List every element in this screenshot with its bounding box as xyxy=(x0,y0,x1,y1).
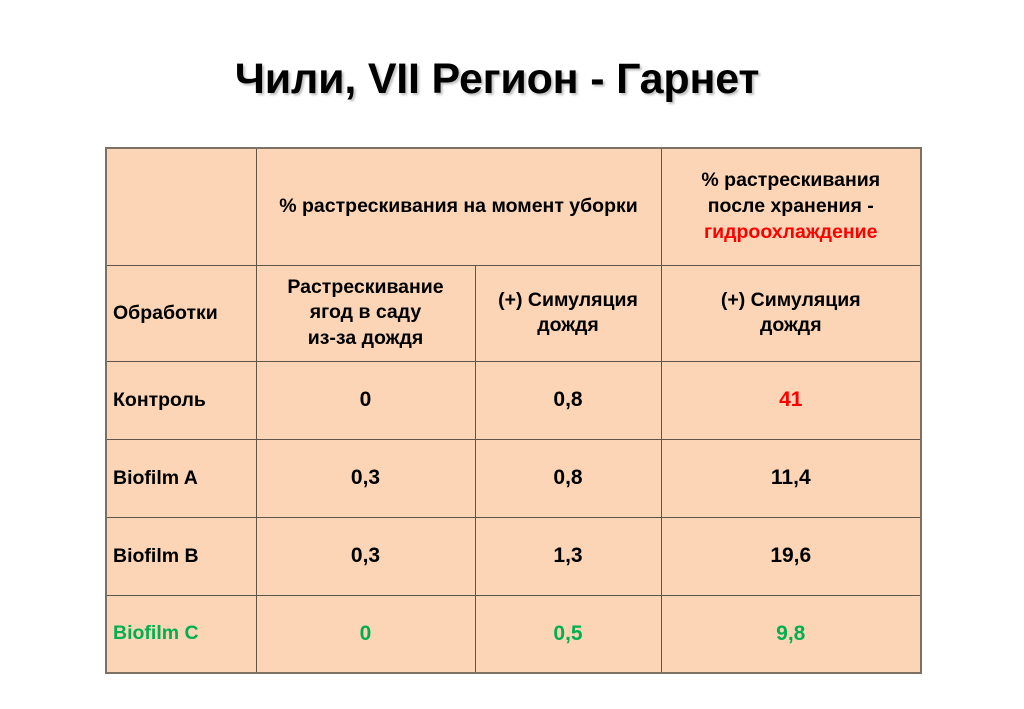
header-treatments: Обработки xyxy=(106,265,256,361)
header-rain-sim-storage-line1: (+) Симуляция xyxy=(721,289,861,311)
row-orchard-rain-value: 0 xyxy=(256,595,475,673)
row-orchard-rain-value: 0,3 xyxy=(256,517,475,595)
header-rain-sim-storage-line2: дождя xyxy=(760,314,822,336)
row-treatment-label: Biofilm C xyxy=(106,595,256,673)
header-orchard-rain-cracking: Растрескивание ягод в саду из-за дождя xyxy=(256,265,475,361)
table-group-header-row: % растрескивания на момент уборки % раст… xyxy=(106,148,921,265)
header-rain-simulation-storage: (+) Симуляция дождя xyxy=(661,265,921,361)
header-group-at-harvest: % растрескивания на момент уборки xyxy=(256,148,661,265)
row-rain-sim-storage-value: 41 xyxy=(661,361,921,439)
row-rain-sim-harvest-value: 0,8 xyxy=(475,361,661,439)
header-group-after-storage: % растрескивания после хранения - гидроо… xyxy=(661,148,921,265)
slide-title: Чили, VII Регион - Гарнет xyxy=(0,55,1024,104)
table-row: Biofilm B 0,3 1,3 19,6 xyxy=(106,517,921,595)
results-table-container: % растрескивания на момент уборки % раст… xyxy=(105,147,920,674)
header-after-storage-line2: после хранения - xyxy=(708,195,874,217)
header-after-storage-line1: % растрескивания xyxy=(701,169,880,191)
table-row: Biofilm C 0 0,5 9,8 xyxy=(106,595,921,673)
header-orchard-rain-line1: Растрескивание xyxy=(287,276,443,298)
row-rain-sim-harvest-value: 0,8 xyxy=(475,439,661,517)
table-row: Biofilm A 0,3 0,8 11,4 xyxy=(106,439,921,517)
table-column-header-row: Обработки Растрескивание ягод в саду из-… xyxy=(106,265,921,361)
row-orchard-rain-value: 0 xyxy=(256,361,475,439)
header-orchard-rain-line2: ягод в саду xyxy=(310,301,422,323)
row-rain-sim-harvest-value: 0,5 xyxy=(475,595,661,673)
row-rain-sim-storage-value: 11,4 xyxy=(661,439,921,517)
row-treatment-label: Biofilm A xyxy=(106,439,256,517)
header-after-storage-hydrocooling: гидроохлаждение xyxy=(704,221,877,243)
header-rain-sim-harvest-line1: (+) Симуляция xyxy=(498,289,638,311)
row-rain-sim-harvest-value: 1,3 xyxy=(475,517,661,595)
header-orchard-rain-line3: из-за дождя xyxy=(308,327,424,349)
row-treatment-label: Biofilm B xyxy=(106,517,256,595)
results-table: % растрескивания на момент уборки % раст… xyxy=(105,147,922,674)
table-row: Контроль 0 0,8 41 xyxy=(106,361,921,439)
header-rain-simulation-harvest: (+) Симуляция дождя xyxy=(475,265,661,361)
header-rain-sim-harvest-line2: дождя xyxy=(537,314,599,336)
header-corner-empty-cell xyxy=(106,148,256,265)
row-orchard-rain-value: 0,3 xyxy=(256,439,475,517)
row-treatment-label: Контроль xyxy=(106,361,256,439)
row-rain-sim-storage-value: 9,8 xyxy=(661,595,921,673)
row-rain-sim-storage-value: 19,6 xyxy=(661,517,921,595)
